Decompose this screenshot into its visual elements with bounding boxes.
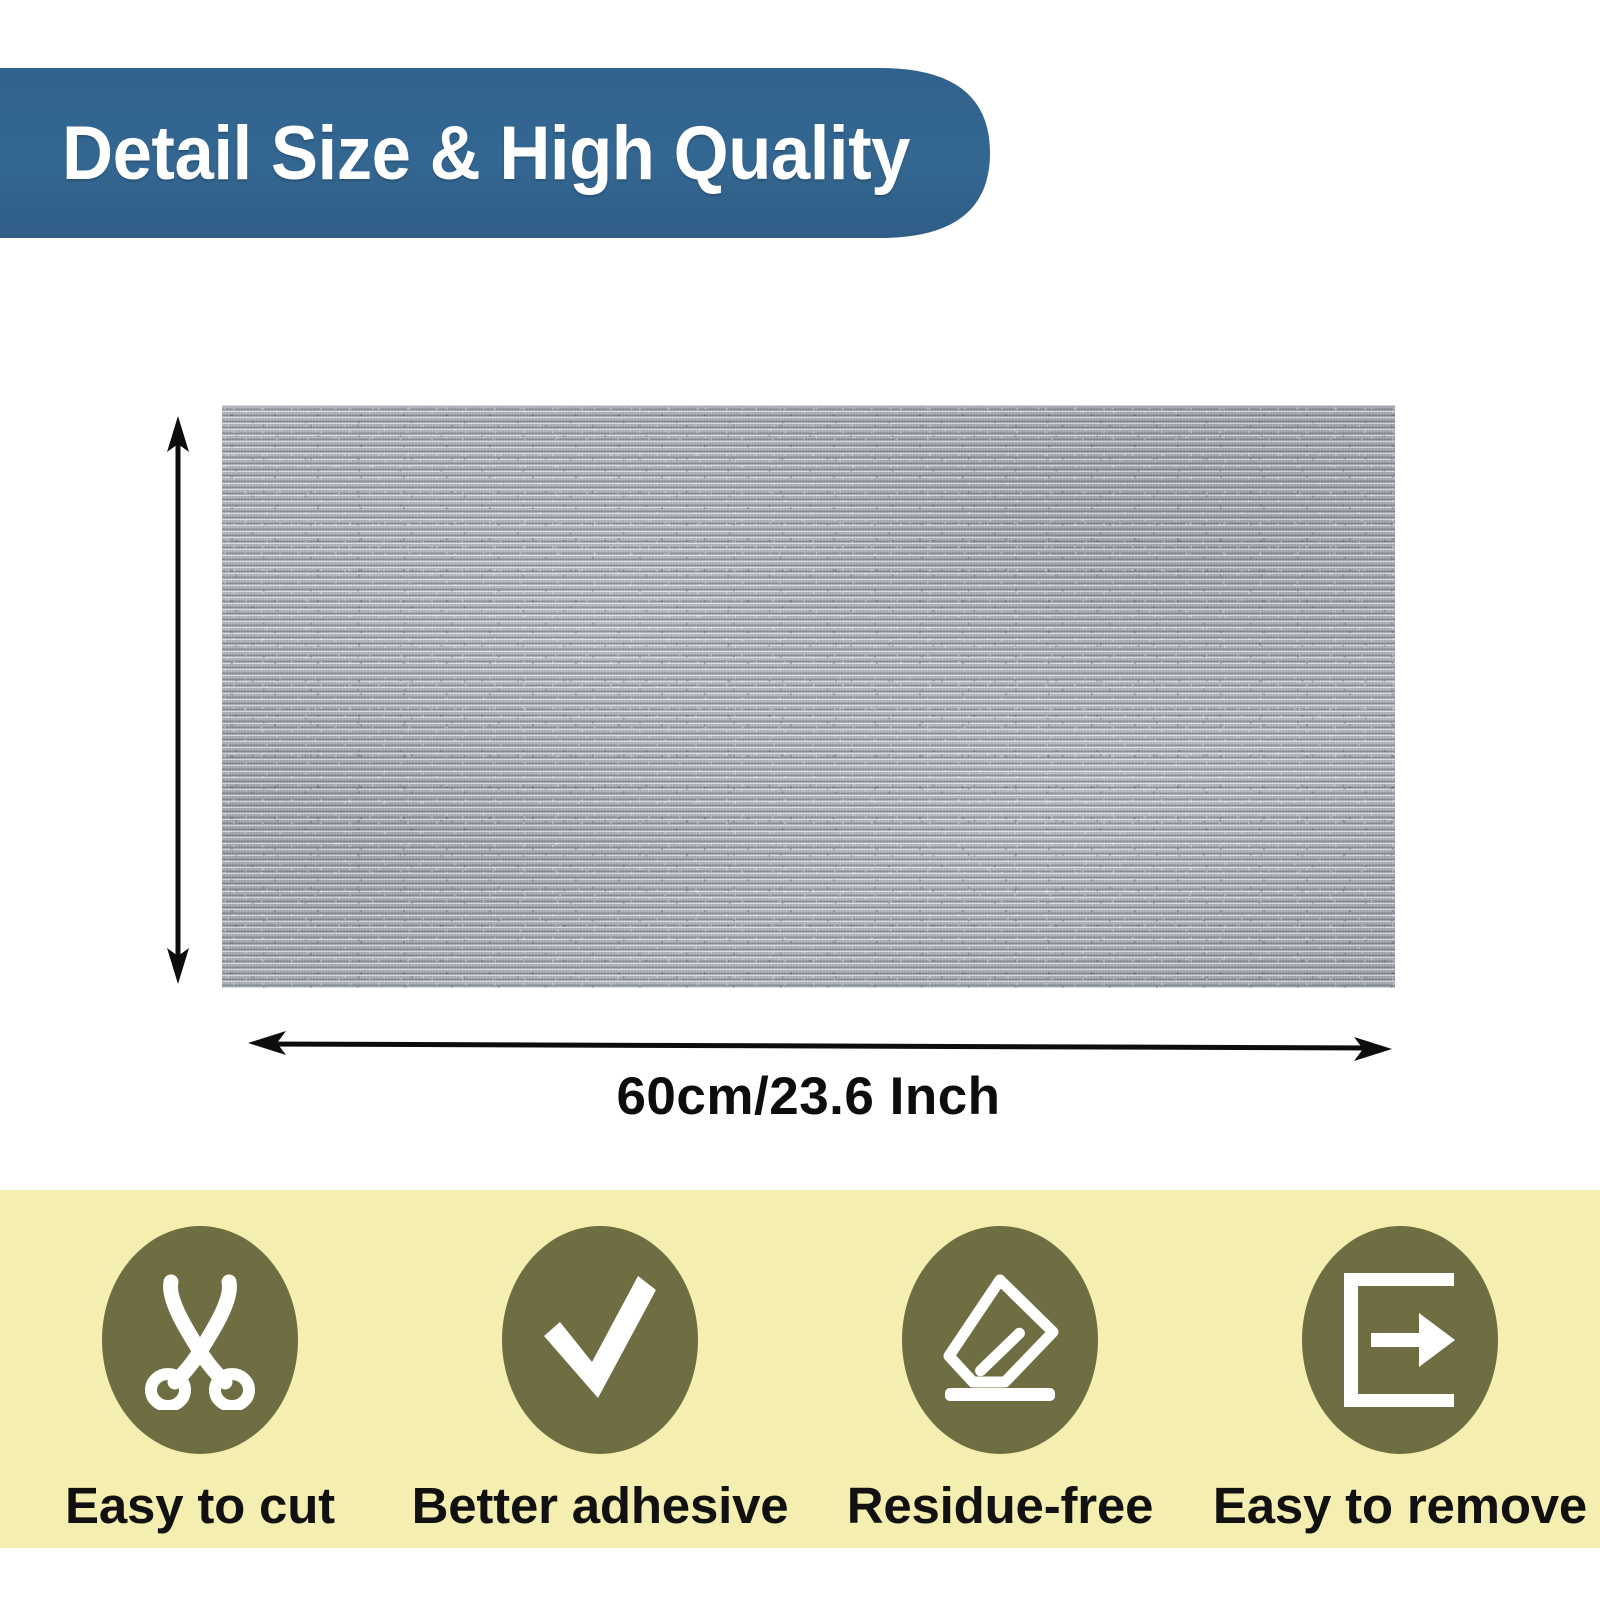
height-dimension-arrow [140,400,220,1000]
page-title: Detail Size & High Quality [62,68,910,238]
feature-item-easy-to-remove: Easy to remove [1200,1190,1600,1548]
eraser-icon [937,1270,1063,1410]
feature-strip: Easy to cut Better adhesive [0,1190,1600,1548]
product-infographic: Detail Size & High Quality 30cm/11.8 Inc… [0,0,1600,1600]
feature-item-easy-to-cut: Easy to cut [0,1190,400,1548]
check-mark-icon [538,1270,662,1410]
carpet-speckle-texture [222,405,1395,988]
feature-badge [902,1226,1098,1454]
feature-item-better-adhesive: Better adhesive [400,1190,800,1548]
feature-badge [102,1226,298,1454]
product-image-carpet-swatch [222,405,1395,988]
feature-badge [502,1226,698,1454]
width-dimension-label: 60cm/23.6 Inch [222,1066,1395,1127]
feature-label: Better adhesive [412,1476,789,1535]
scissors-icon [141,1270,259,1410]
feature-badge [1302,1226,1498,1454]
feature-label: Easy to cut [65,1476,335,1535]
exit-arrow-icon [1337,1273,1463,1407]
feature-label: Easy to remove [1213,1476,1587,1535]
feature-item-residue-free: Residue-free [800,1190,1200,1548]
header-banner: Detail Size & High Quality [0,68,990,238]
feature-label: Residue-free [847,1476,1154,1535]
